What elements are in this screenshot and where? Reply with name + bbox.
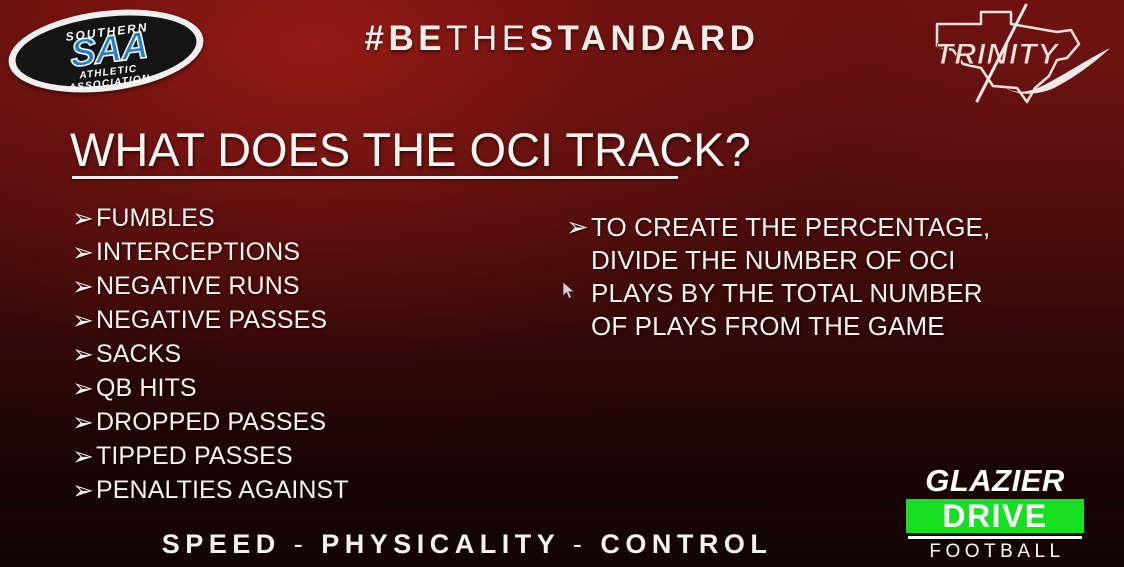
glazier-wordmark: GLAZIER	[906, 465, 1084, 497]
list-item: ➢ SACKS	[72, 340, 502, 368]
trinity-university-logo: TRINITY	[907, 2, 1112, 106]
arrow-bullet-icon: ➢	[72, 272, 96, 300]
list-item-label: NEGATIVE RUNS	[96, 272, 300, 300]
arrow-bullet-icon: ➢	[72, 238, 96, 266]
hashtag-be: BE	[389, 19, 447, 58]
list-item: ➢ QB HITS	[72, 374, 502, 402]
arrow-bullet-icon: ➢	[72, 476, 96, 504]
arrow-bullet-icon: ➢	[72, 442, 96, 470]
arrow-bullet-icon: ➢	[72, 374, 96, 402]
list-item: ➢ DROPPED PASSES	[72, 408, 502, 436]
drive-wordmark: DRIVE	[906, 499, 1084, 533]
list-item-label: SACKS	[96, 340, 181, 368]
list-item: ➢ PENALTIES AGAINST	[72, 476, 502, 504]
list-item-label: TIPPED PASSES	[96, 442, 293, 470]
arrow-bullet-icon: ➢	[72, 340, 96, 368]
oci-percentage-formula-note: ➢ TO CREATE THE PERCENTAGE, DIVIDE THE N…	[566, 211, 1006, 343]
hashtag-symbol: #	[365, 19, 389, 58]
list-item-label: PLAYS BY THE TOTAL NUMBER	[591, 277, 983, 310]
hashtag-standard: STANDARD	[530, 19, 760, 58]
list-item-continuation: PLAYS BY THE TOTAL NUMBER	[566, 277, 1006, 310]
title-underline	[72, 176, 678, 179]
motto-separator: -	[294, 529, 309, 559]
nike-swoosh-icon	[1002, 46, 1112, 94]
motto-physicality: PHYSICALITY	[321, 529, 560, 559]
list-item-label: FUMBLES	[96, 204, 215, 232]
motto-separator: -	[573, 529, 588, 559]
arrow-bullet-icon: ➢	[72, 306, 96, 334]
list-item-continuation: DIVIDE THE NUMBER OF OCI	[566, 244, 1006, 277]
list-item-label: QB HITS	[96, 374, 197, 402]
list-item-continuation: OF PLAYS FROM THE GAME	[566, 310, 1006, 343]
page-title: WHAT DOES THE OCI TRACK?	[70, 123, 751, 177]
arrow-bullet-icon: ➢	[72, 204, 96, 232]
list-item-label: DIVIDE THE NUMBER OF OCI	[591, 244, 956, 277]
motto-speed: SPEED	[162, 529, 281, 559]
list-item-label: PENALTIES AGAINST	[96, 476, 349, 504]
glazier-drive-football-logo: GLAZIER DRIVE FOOTBALL	[906, 465, 1084, 563]
list-item: ➢ NEGATIVE PASSES	[72, 306, 502, 334]
oci-tracked-items-list: ➢ FUMBLES ➢ INTERCEPTIONS ➢ NEGATIVE RUN…	[72, 204, 502, 510]
arrow-bullet-icon: ➢	[72, 408, 96, 436]
list-item: ➢ FUMBLES	[72, 204, 502, 232]
motto-control: CONTROL	[600, 529, 772, 559]
mouse-cursor-icon	[562, 281, 576, 306]
list-item-label: NEGATIVE PASSES	[96, 306, 327, 334]
glazier-divider-rule	[908, 536, 1082, 539]
list-item-label: DROPPED PASSES	[96, 408, 326, 436]
hashtag-the: THE	[446, 19, 530, 58]
list-item-label: TO CREATE THE PERCENTAGE,	[591, 211, 990, 244]
list-item-label: OF PLAYS FROM THE GAME	[591, 310, 945, 343]
football-wordmark: FOOTBALL	[906, 541, 1084, 563]
list-item: ➢ INTERCEPTIONS	[72, 238, 502, 266]
list-item: ➢ TIPPED PASSES	[72, 442, 502, 470]
presentation-slide: SOUTHERN SAA ATHLETIC ASSOCIATION #BETHE…	[0, 0, 1124, 567]
list-item: ➢ NEGATIVE RUNS	[72, 272, 502, 300]
list-item-label: INTERCEPTIONS	[96, 238, 300, 266]
list-item: ➢ TO CREATE THE PERCENTAGE,	[566, 211, 1006, 244]
arrow-bullet-icon: ➢	[566, 211, 591, 244]
